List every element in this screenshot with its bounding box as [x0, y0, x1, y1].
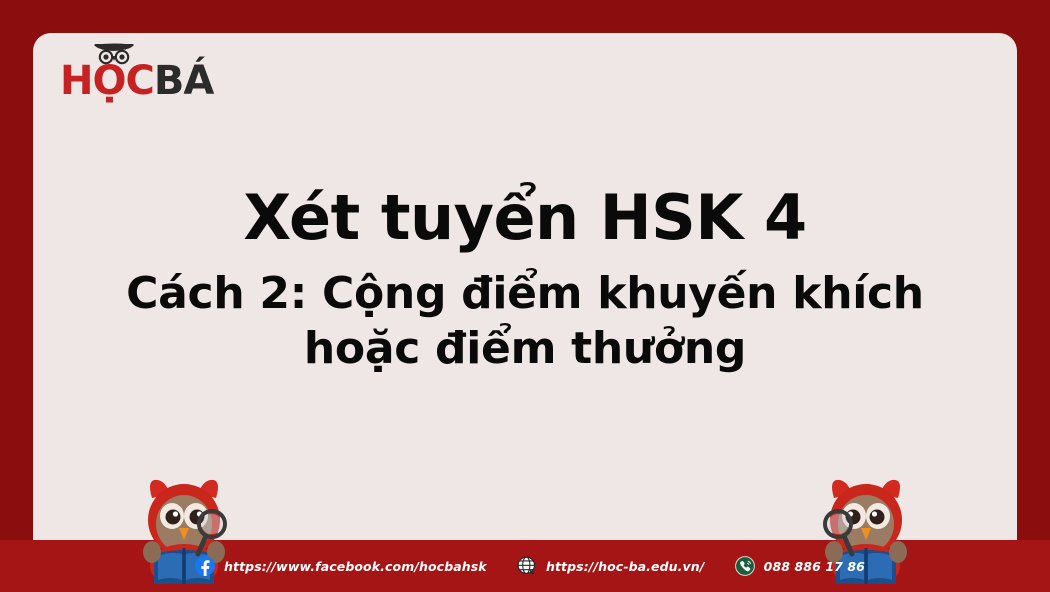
slide-root: HỌCBÁ Xét tuyển HSK 4 Cách 2: Cộng điểm …: [0, 0, 1050, 592]
slide-subtitle: Cách 2: Cộng điểm khuyến khích hoặc điểm…: [125, 266, 925, 376]
website-url-text: https://hoc-ba.edu.vn/: [546, 559, 704, 574]
contact-website[interactable]: https://hoc-ba.edu.vn/: [517, 556, 704, 576]
logo-text-hoc: HỌC: [60, 58, 154, 104]
phone-icon: [735, 556, 755, 576]
facebook-url-text: https://www.facebook.com/hocbahsk: [224, 559, 487, 574]
slide-title: Xét tuyển HSK 4: [93, 183, 957, 252]
logo-wordmark: HỌCBÁ: [60, 61, 213, 101]
facebook-icon: [195, 556, 215, 576]
heading-block: Xét tuyển HSK 4 Cách 2: Cộng điểm khuyến…: [33, 183, 1017, 376]
contact-facebook[interactable]: https://www.facebook.com/hocbahsk: [195, 556, 487, 576]
globe-icon: [517, 556, 537, 576]
footer-contacts: https://www.facebook.com/hocbahsk https:…: [0, 540, 1050, 592]
phone-number-text: 088 886 17 86: [764, 559, 865, 574]
brand-logo: HỌCBÁ: [60, 43, 170, 113]
logo-text-ba: BÁ: [154, 58, 213, 104]
contact-phone[interactable]: 088 886 17 86: [735, 556, 865, 576]
